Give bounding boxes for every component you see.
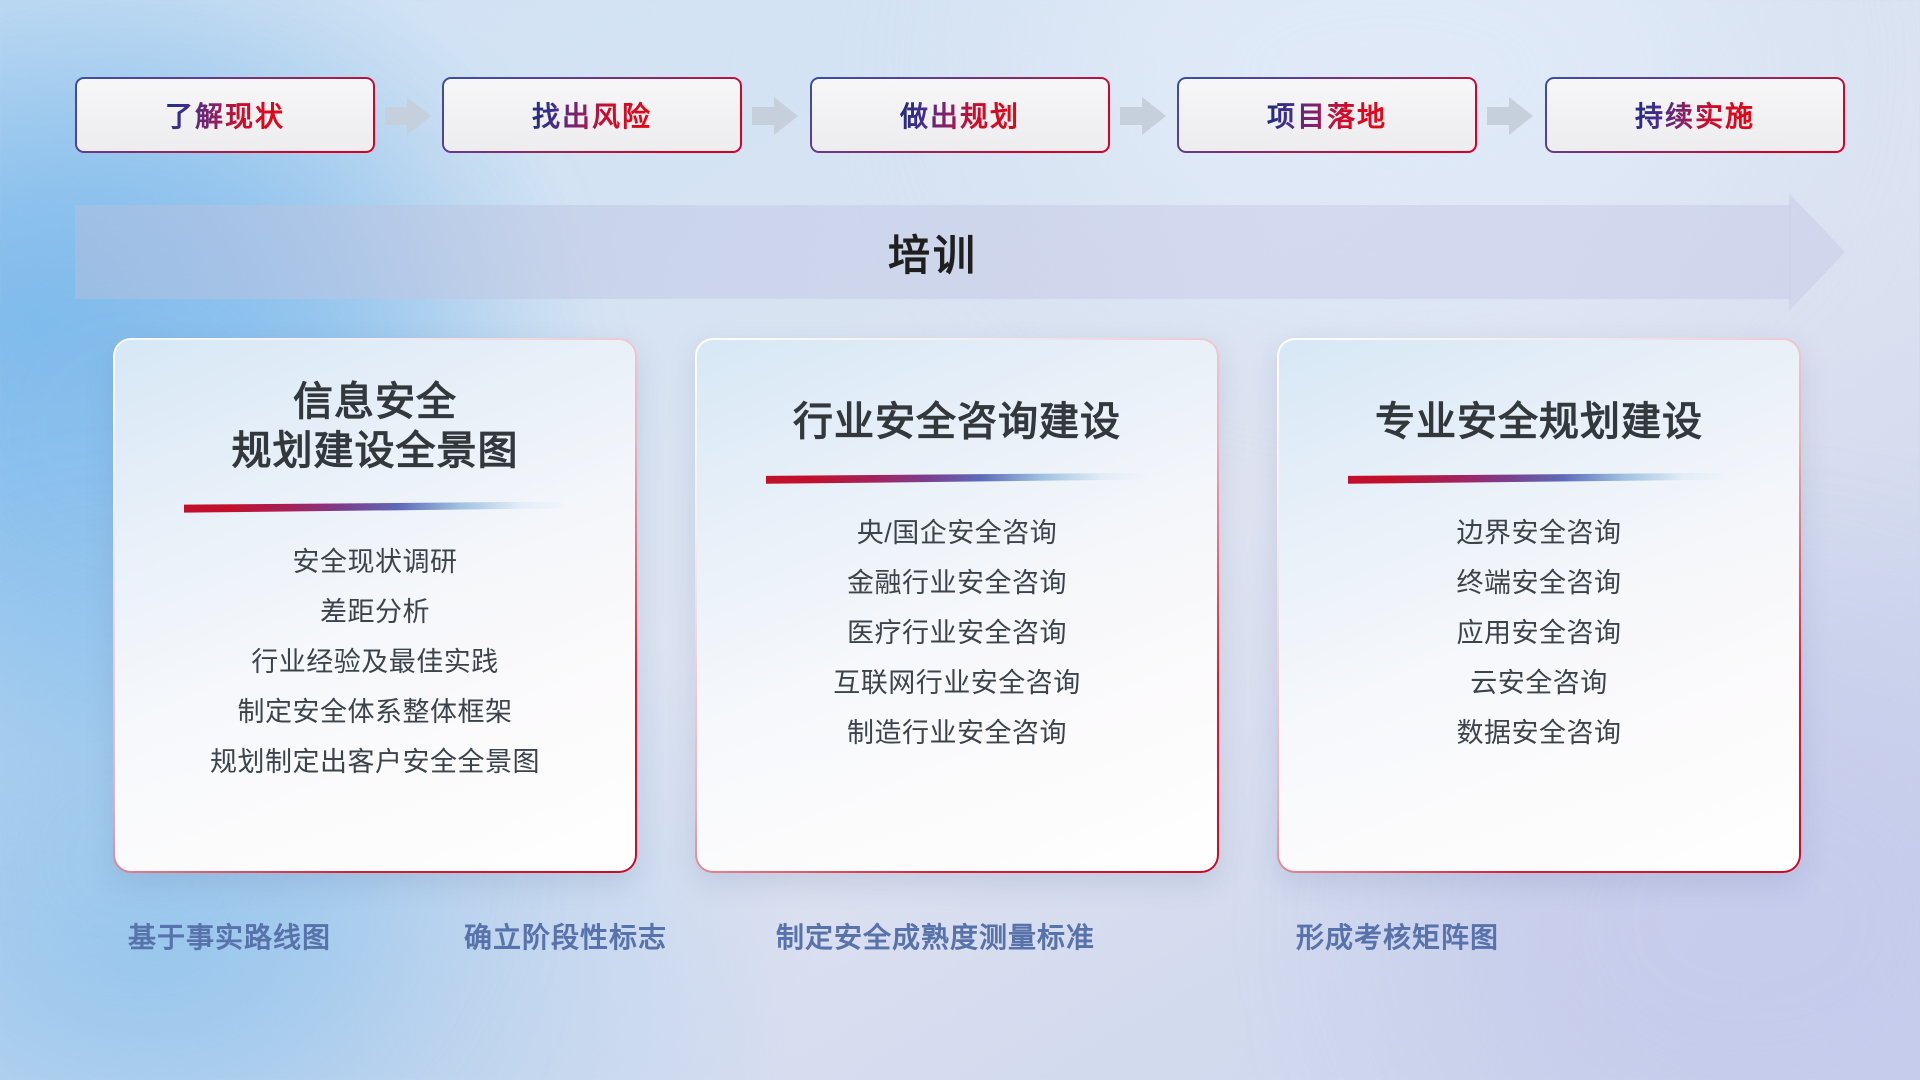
step-pill-1-label: 了解现状	[165, 95, 285, 135]
card-professional-security-planning[interactable]: 专业安全规划建设 边界安全咨询 终端安全咨询 应用安全咨询 云安全咨询 数据安全…	[1277, 338, 1801, 873]
step-arrow-2-icon	[752, 97, 798, 135]
list-item: 安全现状调研	[293, 537, 458, 587]
process-step-row: 了解现状 找出风险 做出规划 项目落地	[0, 77, 1920, 153]
list-item: 互联网行业安全咨询	[833, 658, 1081, 708]
card-3-divider	[1348, 473, 1730, 484]
list-item: 终端安全咨询	[1457, 558, 1622, 608]
step-pill-2[interactable]: 找出风险	[442, 77, 742, 153]
slide-stage: 了解现状 找出风险 做出规划 项目落地	[0, 0, 1920, 1080]
step-pill-3-label: 做出规划	[900, 95, 1020, 135]
step-pill-3[interactable]: 做出规划	[810, 77, 1110, 153]
caption-fact-based-roadmap: 基于事实路线图	[128, 916, 331, 956]
card-1-divider	[184, 502, 566, 513]
list-item: 制造行业安全咨询	[847, 708, 1067, 758]
step-pill-2-surface: 找出风险	[444, 79, 740, 151]
card-3-title: 专业安全规划建设	[1279, 398, 1799, 447]
step-pill-5-label: 持续实施	[1635, 95, 1755, 135]
caption-phase-milestones: 确立阶段性标志	[464, 916, 667, 956]
training-banner-title: 培训	[75, 205, 1791, 299]
list-item: 行业经验及最佳实践	[251, 637, 499, 687]
step-arrow-3-icon	[1120, 97, 1166, 135]
card-1-list: 安全现状调研 差距分析 行业经验及最佳实践 制定安全体系整体框架 规划制定出客户…	[115, 537, 635, 787]
step-pill-5-surface: 持续实施	[1547, 79, 1843, 151]
card-1-title: 信息安全 规划建设全景图	[115, 378, 635, 476]
list-item: 边界安全咨询	[1457, 508, 1622, 558]
step-arrow-1-icon	[385, 97, 431, 135]
step-arrow-4-icon	[1487, 97, 1533, 135]
card-2-list: 央/国企安全咨询 金融行业安全咨询 医疗行业安全咨询 互联网行业安全咨询 制造行…	[697, 508, 1217, 758]
step-pill-1-surface: 了解现状	[77, 79, 373, 151]
step-pill-4-label: 项目落地	[1267, 95, 1387, 135]
step-pill-3-surface: 做出规划	[812, 79, 1108, 151]
step-pill-5[interactable]: 持续实施	[1545, 77, 1845, 153]
list-item: 金融行业安全咨询	[847, 558, 1067, 608]
card-info-security-blueprint[interactable]: 信息安全 规划建设全景图 安全现状调研 差距分析 行业经验及最佳实践 制定安全体…	[113, 338, 637, 873]
step-pill-2-label: 找出风险	[532, 95, 652, 135]
card-3-list: 边界安全咨询 终端安全咨询 应用安全咨询 云安全咨询 数据安全咨询	[1279, 508, 1799, 758]
training-banner: 培训	[75, 205, 1845, 299]
caption-assessment-matrix: 形成考核矩阵图	[1296, 916, 1499, 956]
list-item: 规划制定出客户安全全景图	[210, 737, 540, 787]
step-pill-1[interactable]: 了解现状	[75, 77, 375, 153]
card-1-surface: 信息安全 规划建设全景图 安全现状调研 差距分析 行业经验及最佳实践 制定安全体…	[115, 340, 635, 871]
card-2-title: 行业安全咨询建设	[697, 398, 1217, 447]
card-2-divider	[766, 473, 1148, 484]
step-pill-4-surface: 项目落地	[1179, 79, 1475, 151]
card-2-surface: 行业安全咨询建设 央/国企安全咨询 金融行业安全咨询 医疗行业安全咨询 互联网行…	[697, 340, 1217, 871]
list-item: 制定安全体系整体框架	[238, 687, 513, 737]
caption-maturity-standard: 制定安全成熟度测量标准	[776, 916, 1095, 956]
training-banner-arrowhead-icon	[1789, 193, 1845, 311]
list-item: 数据安全咨询	[1457, 708, 1622, 758]
list-item: 央/国企安全咨询	[857, 508, 1058, 558]
list-item: 云安全咨询	[1470, 658, 1608, 708]
card-industry-security-consulting[interactable]: 行业安全咨询建设 央/国企安全咨询 金融行业安全咨询 医疗行业安全咨询 互联网行…	[695, 338, 1219, 873]
step-pill-4[interactable]: 项目落地	[1177, 77, 1477, 153]
list-item: 应用安全咨询	[1457, 608, 1622, 658]
list-item: 医疗行业安全咨询	[847, 608, 1067, 658]
card-3-surface: 专业安全规划建设 边界安全咨询 终端安全咨询 应用安全咨询 云安全咨询 数据安全…	[1279, 340, 1799, 871]
list-item: 差距分析	[320, 587, 430, 637]
